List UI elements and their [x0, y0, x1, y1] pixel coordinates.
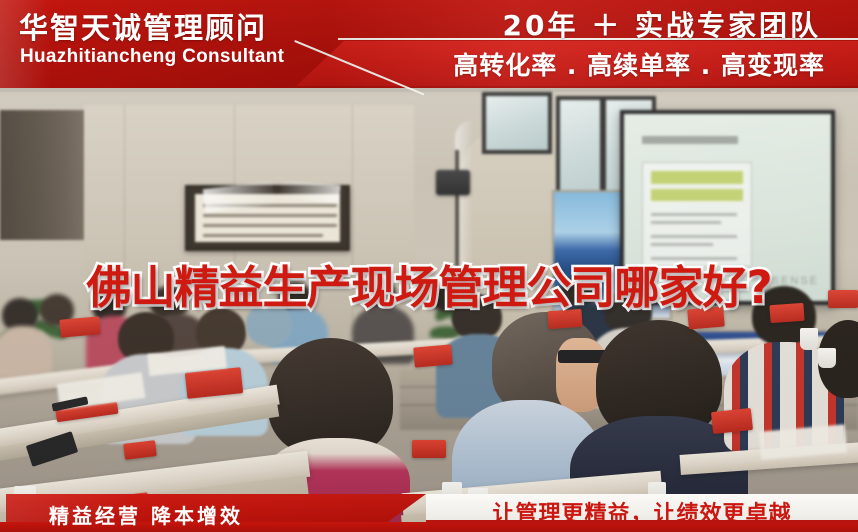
banner-canvas: SENSE [0, 0, 858, 532]
framed-calligraphy [185, 185, 350, 251]
banner-header: 华智天诚管理顾问 Huazhitiancheng Consultant 20年 … [0, 0, 858, 88]
paper-cup [800, 328, 818, 350]
header-tagline-primary: 20年 ＋ 实战专家团队 [0, 4, 858, 44]
red-folder [123, 440, 157, 460]
dark-wood-panel [0, 110, 86, 240]
red-folder [711, 408, 753, 434]
window-pane [486, 96, 548, 150]
paper-cup [818, 348, 836, 368]
wall-speaker [436, 170, 470, 195]
main-headline: 佛山精益生产现场管理公司哪家好? [0, 251, 858, 316]
red-folder [59, 316, 100, 337]
red-folder [413, 344, 453, 367]
footer-slogan-left: 精益经营 降本增效 [49, 500, 243, 529]
footer-right-underline [426, 520, 858, 524]
red-folder [412, 440, 446, 458]
header-tagline-secondary: 高转化率 . 高续单率 . 高变现率 [0, 46, 858, 82]
main-headline-text: 佛山精益生产现场管理公司哪家好? [86, 251, 771, 316]
slide-title-bar [642, 136, 738, 144]
